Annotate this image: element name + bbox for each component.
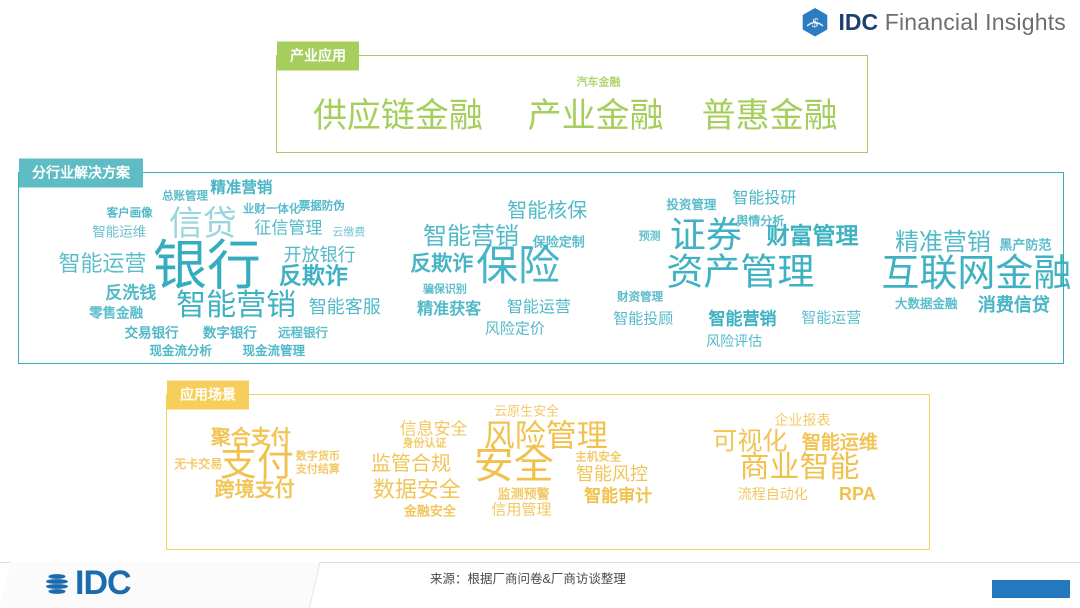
wordcloud-term: 金融安全 — [404, 505, 456, 518]
wordcloud-term: 精准营销 — [895, 231, 991, 255]
wordcloud-term: 信用管理 — [491, 502, 551, 517]
panel-vertical-solutions: 分行业解决方案 客户画像总账管理精准营销业财一体化票据防伪智能运维信贷征信管理云… — [18, 172, 1064, 364]
wordcloud-term: 普惠金融 — [702, 99, 838, 133]
brand-suffix: Financial Insights — [878, 9, 1066, 35]
source-note: 来源：根据厂商问卷&厂商访谈整理 — [430, 568, 626, 587]
wordcloud-term: 征信管理 — [254, 220, 322, 237]
wordcloud-term: 数据安全 — [373, 479, 461, 501]
panel-industry-application: 产业应用 供应链金融产业金融汽车金融普惠金融 — [276, 55, 868, 153]
wordcloud-term: 智能投顾 — [613, 312, 673, 327]
wordcloud-term: 云缴费 — [332, 227, 365, 238]
wordcloud-term: 数字货币 — [296, 452, 340, 463]
wordcloud-term: 智能风控 — [576, 465, 648, 483]
wordcloud-vertical: 客户画像总账管理精准营销业财一体化票据防伪智能运维信贷征信管理云缴费智能运营银行… — [19, 173, 1063, 363]
wordcloud-term: 汽车金融 — [577, 77, 621, 88]
wordcloud-term: 风险定价 — [485, 321, 545, 336]
wordcloud-term: 智能客服 — [309, 298, 381, 316]
wordcloud-term: 银行 — [153, 239, 261, 293]
idc-hexagon-icon: $ — [802, 8, 828, 37]
header-brand: $ IDC Financial Insights — [802, 8, 1066, 37]
wordcloud-term: 总账管理 — [162, 191, 208, 203]
wordcloud-term: 财资管理 — [617, 293, 663, 305]
wordcloud-term: 现金流管理 — [242, 344, 305, 357]
wordcloud-term: 预测 — [639, 231, 661, 242]
wordcloud-term: 票据防伪 — [299, 201, 345, 213]
wordcloud-term: 智能运维 — [92, 225, 146, 239]
brand-idc: IDC — [838, 9, 878, 35]
wordcloud-term: 精准获客 — [417, 302, 481, 318]
wordcloud-term: 产业金融 — [528, 99, 664, 133]
wordcloud-term: 财富管理 — [766, 224, 858, 247]
wordcloud-term: 业财一体化 — [243, 204, 301, 216]
wordcloud-term: 互联网金融 — [881, 255, 1071, 293]
wordcloud-term: 反洗钱 — [105, 284, 156, 301]
wordcloud-term: 主机安全 — [575, 452, 621, 464]
wordcloud-term: 投资管理 — [666, 199, 716, 212]
wordcloud-term: 智能运营 — [59, 253, 147, 275]
wordcloud-term: 客户画像 — [107, 208, 153, 220]
wordcloud-term: 黑产防范 — [999, 239, 1051, 252]
wordcloud-term: 智能核保 — [507, 201, 587, 221]
wordcloud-term: RPA — [839, 485, 876, 503]
wordcloud-term: 流程自动化 — [738, 487, 808, 501]
wordcloud-term: 安全 — [474, 445, 554, 485]
wordcloud-term: 精准营销 — [210, 180, 272, 196]
wordcloud-term: 保险 — [476, 245, 560, 287]
wordcloud-term: 现金流分析 — [150, 344, 213, 357]
wordcloud-term: 监管合规 — [371, 454, 451, 474]
wordcloud-term: 无卡交易 — [174, 458, 222, 470]
wordcloud-term: 资产管理 — [666, 253, 814, 290]
wordcloud-term: 智能运营 — [801, 311, 861, 326]
wordcloud-term: 智能投研 — [732, 191, 796, 207]
wordcloud-term: 交易银行 — [125, 326, 179, 340]
wordcloud-term: 智能营销 — [176, 291, 296, 321]
wordcloud-term: 跨境支付 — [215, 480, 295, 500]
brand-text: IDC Financial Insights — [838, 9, 1066, 36]
wordcloud-term: 智能审计 — [584, 487, 652, 504]
wordcloud-term: 云原生安全 — [494, 405, 559, 418]
wordcloud-term: 智能运营 — [507, 300, 571, 316]
wordcloud-term: 开放银行 — [284, 246, 356, 264]
wordcloud-term: 智能营销 — [708, 311, 776, 328]
wordcloud-term: 大数据金融 — [895, 298, 958, 311]
wordcloud-term: 反欺诈 — [279, 264, 348, 287]
wordcloud-term: 供应链金融 — [313, 99, 483, 133]
panel-application-scenario: 应用场景 聚合支付无卡交易支付数字货币支付结算跨境支付云原生安全信息安全身份认证… — [166, 394, 930, 550]
wordcloud-term: 风险评估 — [706, 334, 762, 348]
footer-idc-logo: IDC — [42, 566, 131, 600]
wordcloud-term: 消费信贷 — [978, 296, 1050, 314]
wordcloud-scenario: 聚合支付无卡交易支付数字货币支付结算跨境支付云原生安全信息安全身份认证风险管理监… — [167, 395, 929, 549]
wordcloud-term: 远程银行 — [278, 326, 328, 339]
wordcloud-term: 企业报表 — [775, 413, 831, 427]
footer-logo-text: IDC — [75, 566, 131, 600]
corner-accent-bar — [992, 580, 1070, 598]
wordcloud-term: 智能运维 — [802, 433, 878, 452]
wordcloud-term: 信息安全 — [400, 420, 468, 437]
wordcloud-term: 骗保识别 — [423, 284, 467, 295]
wordcloud-term: 零售金融 — [89, 306, 143, 320]
wordcloud-term: 商业智能 — [739, 453, 859, 483]
wordcloud-term: 监测预警 — [498, 487, 550, 500]
wordcloud-term: 证券 — [670, 217, 742, 253]
idc-globe-icon — [42, 568, 72, 598]
wordcloud-term: 支付结算 — [296, 464, 340, 475]
wordcloud-term: 身份认证 — [403, 438, 447, 449]
wordcloud-term: 支付 — [220, 444, 294, 481]
wordcloud-industry: 供应链金融产业金融汽车金融普惠金融 — [277, 56, 867, 152]
wordcloud-term: 数字银行 — [203, 326, 257, 340]
wordcloud-term: 反欺诈 — [410, 254, 473, 275]
